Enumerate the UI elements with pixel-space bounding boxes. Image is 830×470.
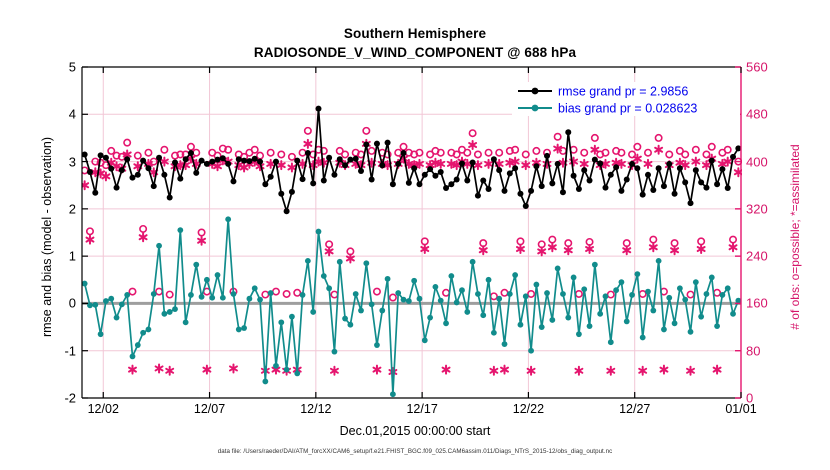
bias-series-marker (719, 292, 725, 298)
rmse-series-marker (385, 140, 391, 146)
rmse-series-marker (422, 172, 428, 178)
bias-series-marker (502, 341, 508, 347)
y-tick-label-left: 4 (69, 107, 76, 122)
bias-series-marker (401, 297, 407, 303)
rmse-series-marker (406, 180, 412, 186)
x-tick-label: 12/17 (406, 402, 437, 416)
bias-series-marker (597, 311, 603, 317)
bias-series-marker (353, 291, 359, 297)
rmse-series-marker (305, 150, 311, 156)
y-axis-ticks-right: 080160240320400480560 (746, 0, 796, 470)
rmse-series-marker (587, 177, 593, 183)
bias-series-marker (714, 323, 720, 329)
rmse-series-marker (427, 166, 433, 172)
rmse-series-marker (624, 177, 630, 183)
bias-series-marker (252, 285, 258, 291)
bias-series-marker (656, 258, 662, 264)
rmse-series-marker (209, 159, 215, 165)
bias-series-marker (406, 298, 412, 304)
rmse-series-marker (342, 162, 348, 168)
bias-series-marker (576, 331, 582, 337)
rmse-series-marker (608, 172, 614, 178)
bias-series-marker (544, 290, 550, 296)
bias-series-marker (183, 319, 189, 325)
bias-series-marker (443, 320, 449, 326)
rmse-series-marker (523, 203, 529, 209)
bias-series-marker (507, 291, 513, 297)
bias-series-marker (363, 260, 369, 266)
rmse-series-marker (677, 165, 683, 171)
rmse-series-marker (719, 166, 725, 172)
y-tick-label-left: -2 (64, 391, 76, 406)
rmse-series-marker (114, 185, 120, 191)
x-tick-label: 12/07 (194, 402, 225, 416)
y-tick-label-left: 2 (69, 201, 76, 216)
rmse-series-marker (597, 160, 603, 166)
bias-series-marker (512, 272, 518, 278)
rmse-series-marker (289, 189, 295, 195)
rmse-series-marker (645, 172, 651, 178)
bias-series-marker (438, 298, 444, 304)
bias-series-marker (587, 323, 593, 329)
bias-series-marker (470, 259, 476, 265)
bias-series-marker (124, 292, 130, 298)
rmse-series-marker (257, 159, 263, 165)
rmse-series-marker (252, 156, 258, 162)
bias-series-marker (231, 291, 237, 297)
bias-series-marker (284, 367, 290, 373)
bias-series-marker (209, 295, 215, 301)
bias-series-marker (565, 315, 571, 321)
rmse-series-marker (571, 173, 577, 179)
rmse-series-marker (374, 141, 380, 147)
bias-series-marker (666, 295, 672, 301)
rmse-series-marker (661, 183, 667, 189)
bias-series-marker (241, 325, 247, 331)
x-tick-label: 12/22 (513, 402, 544, 416)
rmse-series-marker (448, 181, 454, 187)
rmse-series-marker (592, 157, 598, 163)
data-file-note: data file: /Users/raeder/DAI/ATM_forcXX/… (0, 448, 830, 455)
rmse-series-marker (177, 176, 183, 182)
bias-series-marker (459, 287, 465, 293)
bias-series-marker (464, 309, 470, 315)
bias-series-marker (725, 285, 731, 291)
rmse-series-marker (167, 195, 173, 201)
rmse-series-marker (124, 156, 130, 162)
bias-series-marker (347, 322, 353, 328)
bias-series-marker (316, 229, 322, 235)
bias-series-marker (342, 316, 348, 322)
clip-top (0, 0, 830, 67)
bias-series-marker (677, 285, 683, 291)
rmse-series-marker (129, 175, 135, 181)
bias-series-marker (114, 315, 120, 321)
bias-series-marker (480, 312, 486, 318)
bias-series-marker (225, 216, 231, 222)
rmse-series-marker (725, 185, 731, 191)
rmse-series-marker (496, 167, 502, 173)
x-tick-label: 12/12 (300, 402, 331, 416)
bias-series-marker (704, 291, 710, 297)
rmse-series-marker (145, 165, 151, 171)
rmse-series-marker (358, 168, 364, 174)
rmse-series-marker (315, 106, 321, 112)
rmse-series-marker (512, 165, 518, 171)
bias-series-marker (613, 287, 619, 293)
bias-series-marker (268, 290, 274, 296)
rmse-series-marker (693, 167, 699, 173)
bias-series-marker (698, 314, 704, 320)
bias-series-marker (619, 279, 625, 285)
rmse-series-marker (517, 191, 523, 197)
bias-series-marker (555, 266, 561, 272)
rmse-series-marker (555, 161, 561, 167)
rmse-series-marker (544, 153, 550, 159)
bias-series-marker (156, 243, 162, 249)
bias-series-marker (337, 259, 343, 265)
bias-series-marker (177, 227, 183, 233)
rmse-series-marker (326, 155, 332, 161)
bias-series-marker (560, 291, 566, 297)
rmse-series-marker (475, 193, 481, 199)
bias-series-marker (730, 311, 736, 317)
bias-series-marker (528, 348, 534, 354)
bias-series-marker (130, 353, 136, 359)
bias-series-marker (682, 297, 688, 303)
bias-series-marker (433, 284, 439, 290)
rmse-series-marker (618, 188, 624, 194)
bias-series-marker (167, 309, 173, 315)
bias-series-marker (491, 330, 497, 336)
x-tick-label: 01/01 (725, 402, 756, 416)
y-tick-label-right: 160 (746, 296, 768, 311)
rmse-series-marker (533, 163, 539, 169)
rmse-series-marker (528, 188, 534, 194)
rmse-series-marker (581, 167, 587, 173)
rmse-series-marker (273, 159, 279, 165)
rmse-series-marker (103, 155, 109, 161)
rmse-series-marker (682, 179, 688, 185)
rmse-series-marker (215, 157, 221, 163)
rmse-series-marker (135, 172, 141, 178)
y-tick-label-right: 320 (746, 201, 768, 216)
y-tick-label-left: 5 (69, 60, 76, 75)
bias-series-marker (273, 363, 279, 369)
bias-series-marker (411, 278, 417, 284)
bias-series-marker (332, 349, 338, 355)
bias-series-marker (672, 320, 678, 326)
rmse-series-marker (656, 165, 662, 171)
rmse-series-marker (353, 156, 359, 162)
bias-series-marker (151, 291, 157, 297)
rmse-series-marker (650, 187, 656, 193)
bias-series-marker (98, 331, 104, 337)
y-tick-label-right: 240 (746, 249, 768, 264)
rmse-series-marker (688, 200, 694, 206)
rmse-series-marker (188, 150, 194, 156)
rmse-series-marker (161, 172, 167, 178)
rmse-series-marker (666, 161, 672, 167)
bias-series-marker (417, 296, 423, 302)
legend-entry-bias-label: bias grand pr = 0.028623 (558, 102, 697, 116)
y-tick-label-left: 1 (69, 249, 76, 264)
bias-series-marker (475, 291, 481, 297)
bias-series-marker (146, 327, 152, 333)
rmse-series-marker (507, 170, 513, 176)
rmse-series-marker (629, 161, 635, 167)
rmse-series-marker (87, 169, 93, 175)
rmse-series-marker (98, 152, 104, 158)
rmse-series-marker (347, 157, 353, 163)
rmse-series-marker (199, 158, 205, 164)
bias-series-marker (215, 272, 221, 278)
bias-series-marker (581, 286, 587, 292)
bias-series-marker (119, 301, 125, 307)
bias-series-marker (199, 294, 205, 300)
rmse-series-marker (92, 190, 98, 196)
rmse-series-marker (709, 158, 715, 164)
bias-series-marker (539, 324, 545, 330)
rmse-series-marker (486, 186, 492, 192)
rmse-series-marker (310, 180, 316, 186)
bias-series-marker (693, 279, 699, 285)
bias-series-marker (236, 327, 242, 333)
bias-series-marker (108, 296, 114, 302)
rmse-series-marker (321, 177, 327, 183)
plot-canvas: rmse grand pr = 2.9856bias grand pr = 0.… (0, 0, 830, 470)
bias-series-marker (549, 317, 555, 323)
bias-series-marker (650, 308, 656, 314)
rmse-series-marker (379, 162, 385, 168)
bias-series-marker (278, 319, 284, 325)
rmse-series-marker (300, 176, 306, 182)
legend-entry-rmse-label: rmse grand pr = 2.9856 (558, 85, 688, 99)
rmse-series-marker (151, 183, 157, 189)
rmse-series-marker (156, 155, 162, 161)
bias-series-marker (82, 281, 88, 287)
rmse-series-marker (119, 167, 125, 173)
rmse-series-marker (331, 172, 337, 178)
bias-series-marker (533, 282, 539, 288)
bias-series-marker (454, 300, 460, 306)
rmse-series-marker (703, 185, 709, 191)
rmse-series-marker (390, 181, 396, 187)
bias-series-marker (571, 275, 577, 281)
bias-series-marker (486, 277, 492, 283)
bias-series-marker (422, 337, 428, 343)
bias-series-marker (603, 293, 609, 299)
bias-series-marker (247, 296, 253, 302)
rmse-series-marker (730, 154, 736, 160)
rmse-series-marker (432, 173, 438, 179)
rmse-series-marker (443, 185, 449, 191)
rmse-series-marker (225, 161, 231, 167)
bias-series-marker (608, 339, 614, 345)
rmse-series-marker (193, 170, 199, 176)
rmse-series-marker (470, 160, 476, 166)
bias-series-marker (448, 273, 454, 279)
x-tick-label: 12/02 (88, 402, 119, 416)
rmse-series-marker (491, 156, 497, 162)
rmse-series-marker (411, 165, 417, 171)
bias-series-marker (326, 285, 332, 291)
rmse-series-marker (236, 156, 242, 162)
rmse-series-marker (672, 191, 678, 197)
bias-series-marker (523, 293, 529, 299)
rmse-series-marker (246, 158, 252, 164)
rmse-series-marker (204, 161, 210, 167)
bias-series-marker (294, 371, 300, 377)
bias-series-marker (321, 273, 327, 279)
y-tick-label-right: 480 (746, 107, 768, 122)
rmse-series-marker (108, 166, 114, 172)
rmse-series-marker (401, 150, 407, 156)
bias-series-marker (92, 302, 98, 308)
bias-series-marker (661, 327, 667, 333)
rmse-series-marker (613, 164, 619, 170)
bias-series-marker (220, 295, 226, 301)
bias-series-marker (289, 314, 295, 320)
rmse-series-marker (262, 181, 268, 187)
bias-series-marker (629, 292, 635, 298)
bias-series-marker (103, 298, 109, 304)
rmse-series-marker (502, 188, 508, 194)
rmse-series-marker (140, 158, 146, 164)
bias-series-marker (640, 335, 646, 341)
rmse-series-marker (480, 177, 486, 183)
bias-series-marker (369, 301, 375, 307)
rmse-series-marker (640, 192, 646, 198)
y-axis-ticks-left: -2-1012345 (40, 0, 76, 470)
bias-series-marker (427, 315, 433, 321)
rmse-series-marker (459, 160, 465, 166)
bias-series-marker (262, 379, 268, 385)
rmse-series-marker (438, 169, 444, 175)
bias-series-marker (310, 309, 316, 315)
bias-series-marker (592, 262, 598, 268)
bias-series-marker (624, 318, 630, 324)
bias-series-marker (379, 308, 385, 314)
legend-entry-rmse-marker (532, 88, 539, 95)
rmse-series-marker (698, 179, 704, 185)
bias-series-marker (193, 262, 199, 268)
bias-series-marker (140, 330, 146, 336)
bias-series-marker (496, 296, 502, 302)
y-tick-label-right: 560 (746, 60, 768, 75)
bias-series-marker (374, 342, 380, 348)
rmse-series-marker (560, 189, 566, 195)
y-tick-label-left: -1 (64, 343, 76, 358)
rmse-series-marker (539, 183, 545, 189)
x-tick-label: 12/27 (619, 402, 650, 416)
bias-series-marker (390, 391, 396, 397)
bias-series-marker (358, 308, 364, 314)
rmse-series-marker (454, 177, 460, 183)
rmse-series-marker (565, 129, 571, 135)
rmse-series-marker (284, 208, 290, 214)
bias-series-marker (709, 275, 715, 281)
rmse-series-marker (634, 165, 640, 171)
bias-series-marker (395, 290, 401, 296)
y-tick-label-left: 0 (69, 296, 76, 311)
bias-series-marker (300, 292, 306, 298)
rmse-series-marker (268, 174, 274, 180)
bias-series-marker (204, 277, 210, 283)
rmse-series-marker (183, 156, 189, 162)
rmse-series-marker (337, 156, 343, 162)
rmse-series-marker (576, 186, 582, 192)
rmse-series-marker (220, 155, 226, 161)
rmse-series-marker (395, 161, 401, 167)
rmse-series-marker (416, 181, 422, 187)
chart-figure: Southern Hemisphere RADIOSONDE_V_WIND_CO… (0, 0, 830, 470)
bias-series-marker (188, 292, 194, 298)
rmse-series-marker (464, 177, 470, 183)
y-tick-label-left: 3 (69, 154, 76, 169)
rmse-series-marker (714, 181, 720, 187)
legend-entry-bias-marker (532, 105, 539, 112)
x-axis-label: Dec.01,2015 00:00:00 start (0, 424, 830, 438)
bias-series-marker (305, 258, 311, 264)
rmse-series-marker (549, 180, 555, 186)
rmse-series-marker (241, 158, 247, 164)
y-tick-label-right: 400 (746, 154, 768, 169)
bias-series-marker (634, 271, 640, 277)
rmse-series-marker (369, 177, 375, 183)
rmse-series-marker (363, 142, 369, 148)
bias-series-marker (385, 276, 391, 282)
bias-series-marker (135, 342, 141, 348)
rmse-series-marker (172, 160, 178, 166)
rmse-series-marker (602, 185, 608, 191)
bias-series-marker (172, 306, 178, 312)
bias-series-marker (518, 322, 524, 328)
rmse-series-marker (278, 191, 284, 197)
rmse-series-marker (230, 178, 236, 184)
bias-series-marker (161, 311, 167, 317)
bias-series-marker (645, 289, 651, 295)
rmse-series-marker (294, 158, 300, 164)
bias-series-marker (688, 329, 694, 335)
y-tick-label-right: 80 (746, 343, 760, 358)
bias-series-marker (257, 297, 263, 303)
